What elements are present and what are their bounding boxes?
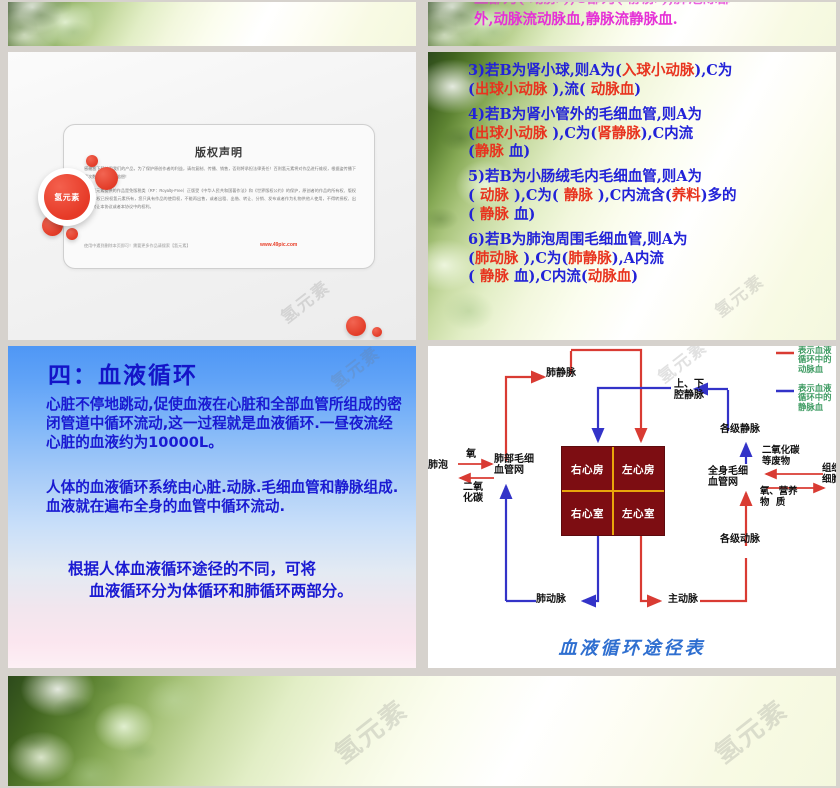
decorative-dot-5 xyxy=(346,316,366,336)
screenshot-page: 版权声明 感谢您下载使用我们的产品，为了保护原创作者的利益，请勿复制、传播、销售… xyxy=(0,0,840,788)
slide-bottom-strip[interactable]: 氢元素 氢元素 xyxy=(8,676,836,786)
watermark: 氢元素 xyxy=(274,273,334,328)
heart-diagram: 右心房 左心房 右心室 左心室 xyxy=(561,446,665,536)
label-veins-levels: 各级静脉 xyxy=(720,424,760,435)
qa-item-4-line-2: (出球小动脉 ),C为(肾静脉),C内流 xyxy=(468,125,830,144)
conclusion-block: 根据人体血液循环途径的不同，可将 血液循环分为体循环和肺循环两部分。 xyxy=(40,558,402,603)
slide-circulation-diagram[interactable]: 右心房 左心房 右心室 左心室 肺静脉 上、下 腔静脉 肺泡 氧 二氧 化碳 肺… xyxy=(428,346,836,668)
copyright-footer: 使用中遇到删除本页即可！需要更多作品请搜索【氢元素】 xyxy=(84,243,190,249)
qa-item-5-line-2: ( 动脉 ),C为( 静脉 ),C内流含(养料)多的 xyxy=(468,187,830,206)
copyright-title: 版权声明 xyxy=(64,144,374,160)
label-alveolus: 肺泡 xyxy=(428,460,448,471)
legend-venous-text: 表示血液 循环中的 静脉血 xyxy=(798,384,832,412)
leaf-background xyxy=(8,676,836,786)
watermark: 氢元素 xyxy=(324,346,384,394)
label-oxygen: 氧 xyxy=(466,449,476,460)
qa-item-3-line-1: 3)若B为肾小球,则A为(入球小动脉),C为 xyxy=(468,62,830,81)
body-paragraph-1: 心脏不停地跳动,促使血液在心脏和全部血管所组成的密闭管道中循环流动,这一过程就是… xyxy=(46,396,406,453)
label-waste: 二氧化碳 等废物 xyxy=(762,446,800,467)
qa-item-3-line-2: (出球小动脉 ),流( 动脉血) xyxy=(468,81,830,100)
qa-item-4-line-1: 4)若B为肾小管外的毛细血管,则A为 xyxy=(468,106,830,125)
brand-logo-label: 氢元素 xyxy=(44,174,90,220)
qa-item-5-line-3: ( 静脉 血) xyxy=(468,206,830,225)
slide-top-right-strip[interactable]: 上部为( 动脉 ),C部为( 静脉 ),肺泡除部 外,动脉流动脉血,静脉流静脉血… xyxy=(428,2,836,46)
label-aorta: 主动脉 xyxy=(668,594,698,605)
slide-title: 四：血液循环 xyxy=(48,356,198,390)
label-nutrients: 氧、营养 物 质 xyxy=(760,487,798,508)
qa-item-5-line-1: 5)若B为小肠绒毛内毛细血管,则A为 xyxy=(468,168,830,187)
diagram-title: 血液循环途径表 xyxy=(428,634,836,660)
label-pulmonary-vein: 肺静脉 xyxy=(546,368,576,379)
decorative-dot-6 xyxy=(372,327,382,337)
label-arteries-levels: 各级动脉 xyxy=(720,534,760,545)
label-lung-capillary: 肺部毛细 血管网 xyxy=(494,454,534,476)
label-pulmonary-artery: 肺动脉 xyxy=(536,594,566,605)
qa-line-magenta: 外,动脉流动脉血,静脉流静脉血. xyxy=(474,11,836,30)
heart-right-atrium: 右心房 xyxy=(562,447,613,491)
conclusion-line-2: 血液循环分为体循环和肺循环两部分。 xyxy=(89,581,353,600)
copyright-url[interactable]: www.49pic.com xyxy=(260,242,297,248)
heart-right-ventricle: 右心室 xyxy=(562,491,613,535)
qa-item-6-line-1: 6)若B为肺泡周围毛细血管,则A为 xyxy=(468,231,830,250)
copyright-paragraph-1: 感谢您下载使用我们的产品，为了保护原创作者的利益，请勿复制、传播、销售，否则将承… xyxy=(84,165,356,181)
qa-text-block: 3)若B为肾小球,则A为(入球小动脉),C为 (出球小动脉 ),流( 动脉血) … xyxy=(468,56,830,287)
qa-item-6-line-3: ( 静脉 血),C内流(动脉血) xyxy=(468,268,830,287)
slide-copyright[interactable]: 版权声明 感谢您下载使用我们的产品，为了保护原创作者的利益，请勿复制、传播、销售… xyxy=(8,52,416,340)
slide-top-left-strip[interactable] xyxy=(8,2,416,46)
decorative-dot-2 xyxy=(95,167,118,190)
copyright-card: 版权声明 感谢您下载使用我们的产品，为了保护原创作者的利益，请勿复制、传播、销售… xyxy=(63,124,375,269)
qa-item-6-line-2: (肺动脉 ),C为(肺静脉),A内流 xyxy=(468,250,830,269)
decorative-dot-4 xyxy=(66,228,78,240)
heart-left-ventricle: 左心室 xyxy=(613,491,664,535)
label-tissue-cells: 组织 细胞 xyxy=(822,464,836,485)
brand-logo-badge: 氢元素 xyxy=(38,168,96,226)
decorative-dot-1 xyxy=(86,155,98,167)
slide-blood-circulation-text[interactable]: 四：血液循环 心脏不停地跳动,促使血液在心脏和全部血管所组成的密闭管道中循环流动… xyxy=(8,346,416,668)
heart-left-atrium: 左心房 xyxy=(613,447,664,491)
slide-question-answers[interactable]: 3)若B为肾小球,则A为(入球小动脉),C为 (出球小动脉 ),流( 动脉血) … xyxy=(428,52,836,340)
label-carbon-dioxide: 二氧 化碳 xyxy=(463,482,483,504)
copyright-paragraph-2: 氢元素提供的作品是免版税类（RF：Royalty-Free）正版受《中华人民共和… xyxy=(84,187,356,211)
qa-item-4-line-3: (静脉 血) xyxy=(468,143,830,162)
legend-arterial-text: 表示血液 循环中的 动脉血 xyxy=(798,346,832,374)
label-body-capillary: 全身毛细 血管网 xyxy=(708,466,748,488)
body-paragraph-2: 人体的血液循环系统由心脏.动脉.毛细血管和静脉组成.血液就在遍布全身的血管中循环… xyxy=(46,479,406,517)
conclusion-line-1: 根据人体血液循环途径的不同，可将 xyxy=(40,558,402,580)
label-vena-cava: 上、下 腔静脉 xyxy=(674,379,704,401)
qa-cut-line: 上部为( 动脉 ),C部为( 静脉 ),肺泡除部 xyxy=(474,2,836,9)
diagram-canvas: 右心房 左心房 右心室 左心室 肺静脉 上、下 腔静脉 肺泡 氧 二氧 化碳 肺… xyxy=(428,346,836,668)
leaf-background xyxy=(8,2,416,46)
